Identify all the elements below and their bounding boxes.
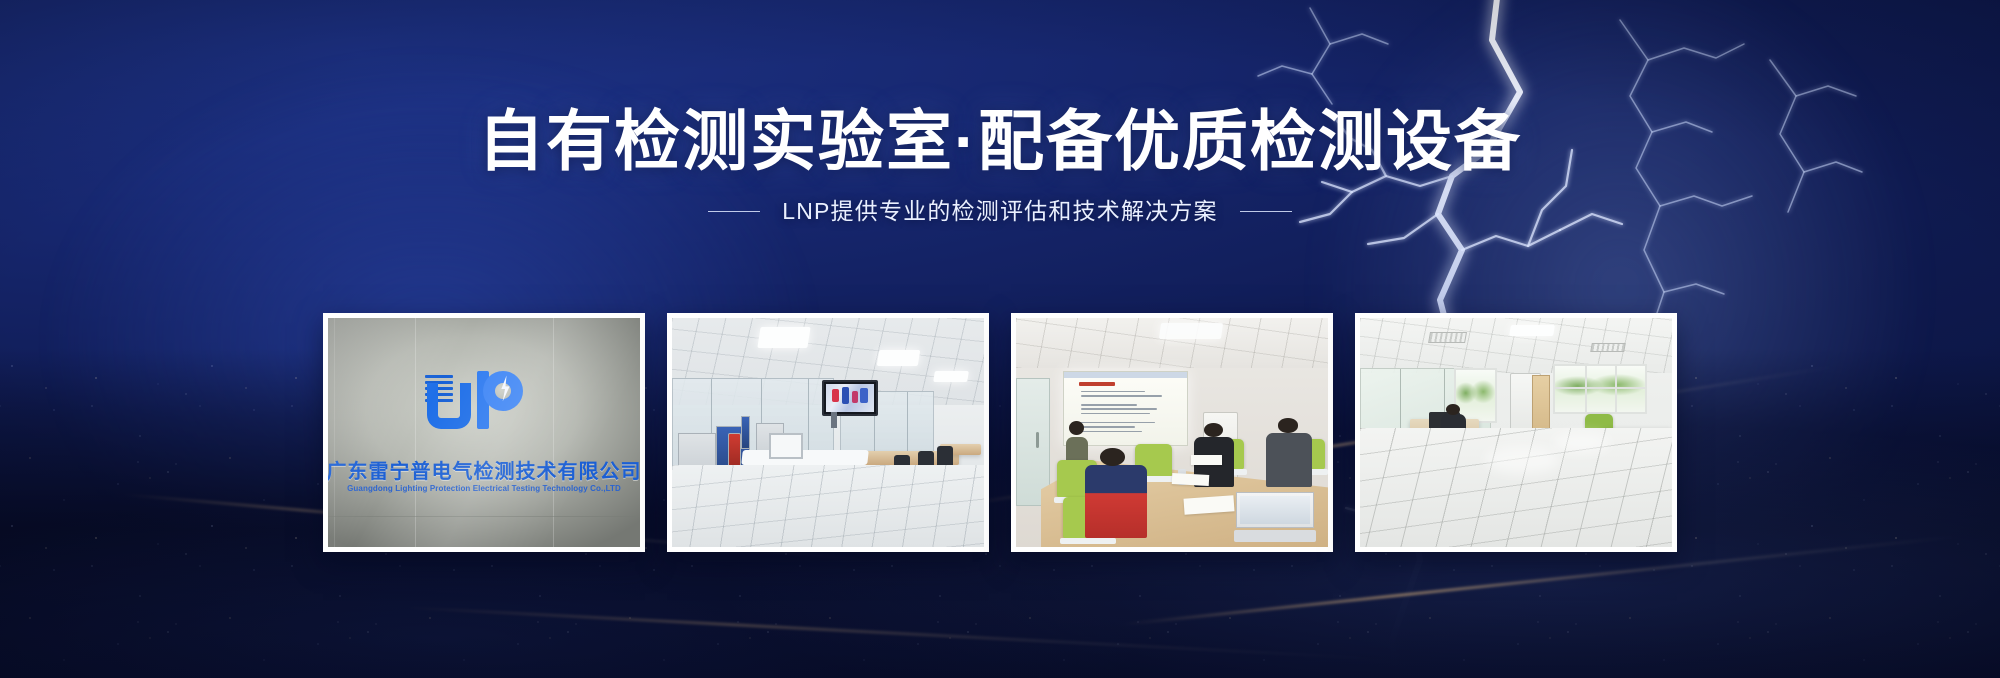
- person-attendee: [1085, 465, 1147, 538]
- gallery-card-laboratory[interactable]: [667, 313, 989, 552]
- gallery-card-meeting-room[interactable]: [1011, 313, 1333, 552]
- test-equipment-blue: [741, 416, 750, 448]
- photo-company-sign: 广东雷宁普电气检测技术有限公司 Guangdong Lighting Prote…: [328, 318, 640, 547]
- ceiling-vent: [1428, 332, 1467, 343]
- sunlight-patch: [1485, 446, 1560, 473]
- page-subtitle: LNP提供专业的检测评估和技术解决方案: [782, 200, 1218, 223]
- projector-screen: [1063, 371, 1188, 447]
- laptop: [1234, 492, 1315, 542]
- photo-gallery: 广东雷宁普电气检测技术有限公司 Guangdong Lighting Prote…: [323, 313, 1677, 552]
- wall-monitor: [822, 380, 878, 416]
- company-name-en: Guangdong Lighting Protection Electrical…: [347, 484, 621, 493]
- ceiling-light: [1158, 323, 1223, 339]
- screen-titlebar: [1064, 372, 1187, 378]
- document-paper: [1191, 455, 1222, 464]
- laptop-screen: [1236, 492, 1313, 528]
- door-handle-icon: [1036, 432, 1039, 448]
- gallery-card-company-sign[interactable]: 广东雷宁普电气检测技术有限公司 Guangdong Lighting Prote…: [323, 313, 645, 552]
- logo-letter-u: [427, 383, 471, 429]
- photo-meeting-room: [1016, 318, 1328, 547]
- ceiling-vent: [1590, 343, 1626, 352]
- console-worktop: [742, 450, 869, 465]
- ceiling-light: [1509, 325, 1555, 336]
- person-attendee: [1266, 433, 1313, 488]
- document-paper: [1184, 495, 1235, 514]
- rule-left-icon: [708, 211, 760, 212]
- glass-door: [1016, 378, 1050, 506]
- wall-seam: [334, 318, 335, 547]
- floor: [672, 465, 984, 547]
- ceiling-light: [758, 327, 811, 348]
- window: [1553, 364, 1647, 414]
- wall-seam: [553, 318, 554, 547]
- photo-office: [1360, 318, 1672, 547]
- window-foliage: [1456, 380, 1496, 406]
- page-title: 自有检测实验室·配备优质检测设备: [0, 108, 2000, 174]
- photo-laboratory: [672, 318, 984, 547]
- document-paper: [1172, 473, 1210, 486]
- lnp-logo-icon: [425, 369, 543, 431]
- wall-seam: [415, 318, 416, 547]
- glass-sheen: [328, 318, 640, 547]
- sunlight-patch: [1553, 433, 1609, 454]
- subtitle-row: LNP提供专业的检测评估和技术解决方案: [0, 200, 2000, 223]
- ceiling-light: [877, 350, 920, 366]
- monitor-mount: [831, 412, 837, 428]
- slide-heading: [1079, 382, 1116, 386]
- monitor-screen-content: [826, 384, 874, 412]
- laptop-keyboard: [1234, 530, 1315, 542]
- ceiling-light: [933, 371, 969, 382]
- rule-right-icon: [1240, 211, 1292, 212]
- console-monitor: [769, 433, 803, 459]
- company-name-cn: 广东雷宁普电气检测技术有限公司: [328, 455, 640, 484]
- hero-text-block: 自有检测实验室·配备优质检测设备 LNP提供专业的检测评估和技术解决方案: [0, 108, 2000, 223]
- wall-baseline: [328, 516, 640, 517]
- gallery-card-office[interactable]: [1355, 313, 1677, 552]
- hero-banner: 自有检测实验室·配备优质检测设备 LNP提供专业的检测评估和技术解决方案: [0, 0, 2000, 678]
